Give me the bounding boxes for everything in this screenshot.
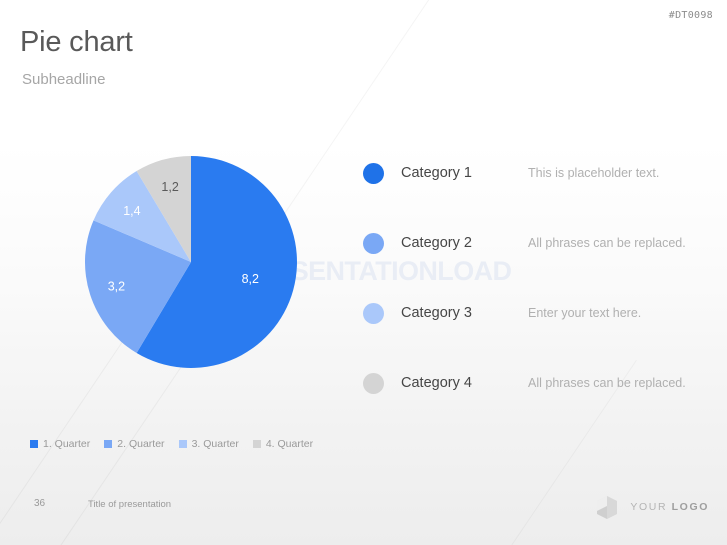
- footer-title: Title of presentation: [88, 499, 171, 510]
- page-number: 36: [34, 498, 45, 509]
- category-description: All phrases can be replaced.: [528, 236, 686, 250]
- legend-swatch: [179, 440, 187, 448]
- legend-item[interactable]: 1. Quarter: [30, 438, 90, 450]
- category-label: Category 1: [401, 165, 501, 181]
- pie-chart-svg: 8,23,21,41,2: [85, 156, 297, 368]
- legend-label: 2. Quarter: [117, 438, 164, 450]
- cube-icon: [595, 494, 619, 520]
- category-list: Category 1This is placeholder text.Categ…: [363, 138, 723, 418]
- category-row[interactable]: Category 2All phrases can be replaced.: [363, 208, 723, 278]
- category-color-dot: [363, 303, 384, 324]
- legend-swatch: [253, 440, 261, 448]
- page-title: Pie chart: [20, 26, 133, 59]
- legend-label: 1. Quarter: [43, 438, 90, 450]
- legend-label: 4. Quarter: [266, 438, 313, 450]
- category-label: Category 4: [401, 375, 501, 391]
- category-row[interactable]: Category 4All phrases can be replaced.: [363, 348, 723, 418]
- category-label: Category 3: [401, 305, 501, 321]
- pie-chart: 8,23,21,41,2: [85, 156, 297, 368]
- logo: YOUR LOGO: [595, 494, 709, 520]
- legend-item[interactable]: 2. Quarter: [104, 438, 164, 450]
- category-color-dot: [363, 373, 384, 394]
- slide-canvas: #DT0098 Pie chart Subheadline PRESENTATI…: [0, 0, 727, 545]
- legend-swatch: [30, 440, 38, 448]
- chart-legend: 1. Quarter2. Quarter3. Quarter4. Quarter: [30, 438, 327, 450]
- category-label: Category 2: [401, 235, 501, 251]
- document-code: #DT0098: [669, 10, 713, 21]
- pie-slice-label: 8,2: [242, 272, 259, 286]
- pie-slice-label: 1,4: [123, 204, 140, 218]
- legend-item[interactable]: 4. Quarter: [253, 438, 313, 450]
- logo-text: YOUR LOGO: [630, 501, 709, 513]
- pie-slice-label: 1,2: [161, 180, 178, 194]
- category-row[interactable]: Category 3Enter your text here.: [363, 278, 723, 348]
- page-subtitle: Subheadline: [22, 71, 105, 88]
- category-description: Enter your text here.: [528, 306, 641, 320]
- legend-item[interactable]: 3. Quarter: [179, 438, 239, 450]
- pie-slice-group: [85, 156, 297, 368]
- legend-label: 3. Quarter: [192, 438, 239, 450]
- category-description: This is placeholder text.: [528, 166, 659, 180]
- pie-slice-label: 3,2: [108, 280, 125, 294]
- legend-swatch: [104, 440, 112, 448]
- category-color-dot: [363, 233, 384, 254]
- category-description: All phrases can be replaced.: [528, 376, 686, 390]
- logo-text-light: YOUR: [630, 501, 671, 513]
- category-row[interactable]: Category 1This is placeholder text.: [363, 138, 723, 208]
- category-color-dot: [363, 163, 384, 184]
- logo-text-bold: LOGO: [672, 501, 709, 513]
